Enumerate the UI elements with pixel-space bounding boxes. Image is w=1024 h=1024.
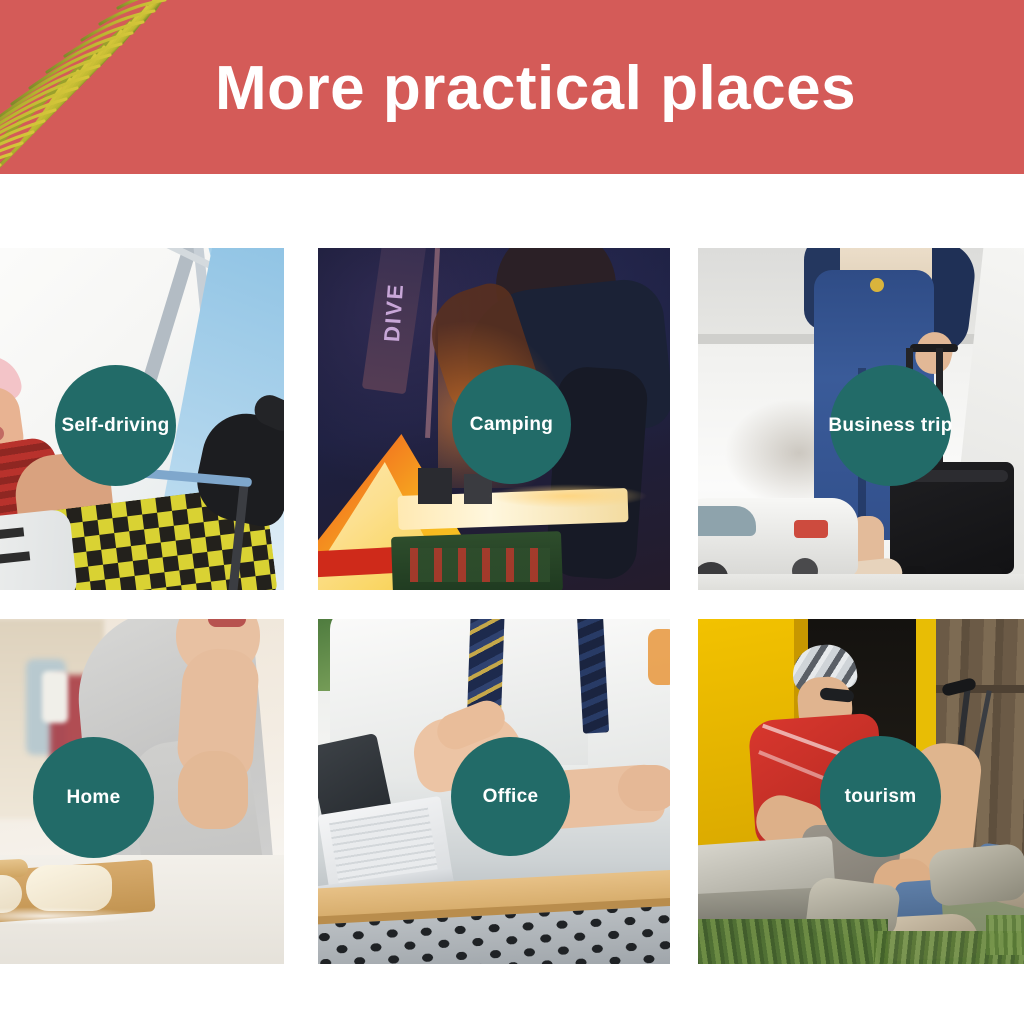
page-title: More practical places <box>215 58 856 120</box>
header-banner: More practical places <box>0 0 1024 174</box>
badge-tourism[interactable]: tourism <box>820 736 941 857</box>
badge-office[interactable]: Office <box>451 737 570 856</box>
palm-frond-icon <box>0 0 204 174</box>
places-grid: DIVE <box>0 248 1024 964</box>
badge-label-business-trip: Business trip <box>828 415 952 437</box>
badge-camping[interactable]: Camping <box>452 365 571 484</box>
badge-label-office: Office <box>483 786 539 808</box>
badge-self-driving[interactable]: Self-driving <box>55 365 176 486</box>
badge-label-camping: Camping <box>470 414 553 436</box>
badge-business-trip[interactable]: Business trip <box>830 365 951 486</box>
badge-home[interactable]: Home <box>33 737 154 858</box>
badge-label-home: Home <box>67 787 121 809</box>
badge-label-tourism: tourism <box>845 786 917 808</box>
badge-label-self-driving: Self-driving <box>61 415 169 437</box>
